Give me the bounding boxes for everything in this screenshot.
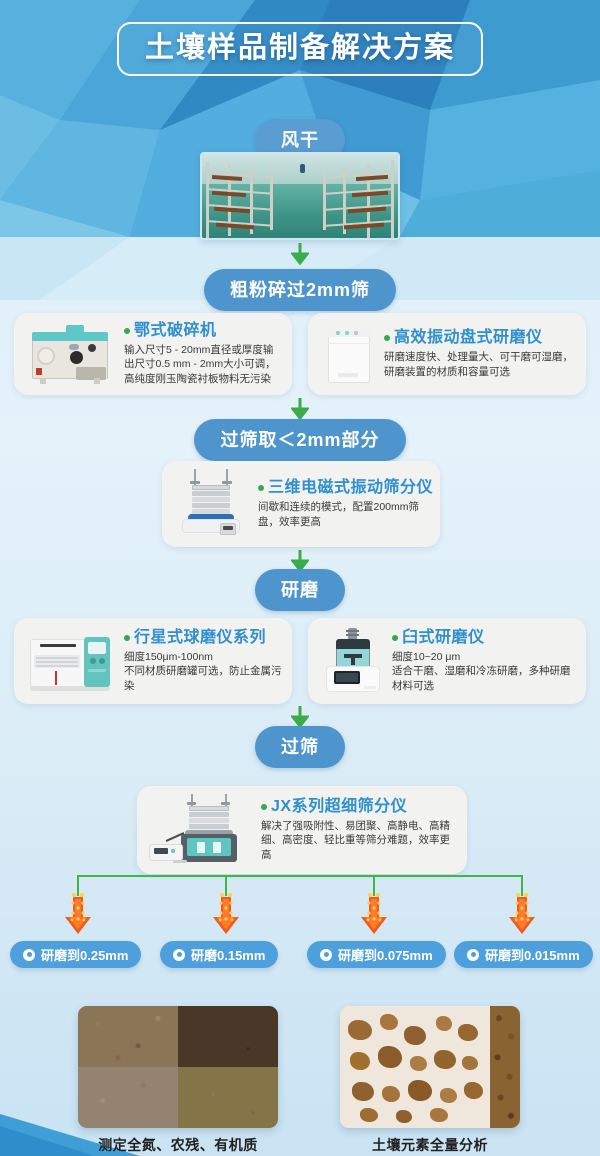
card-jaw-crusher[interactable]: 鄂式破碎机 输入尺寸5 - 20mm直径或厚度输出尺寸0.5 mm - 2mm大… <box>14 313 292 395</box>
orange-down-arrow-icon <box>62 893 94 937</box>
air-drying-racks-photo <box>200 152 400 240</box>
flow-arrow-icon <box>291 706 309 728</box>
planetary-ball-mill-device-icon <box>24 627 120 695</box>
result-chip-label: 研磨0.15mm <box>191 945 265 964</box>
step-pill-sieving[interactable]: 过筛 <box>255 726 345 768</box>
card-desc-vibrating-disc-mill: 研磨速度快、处理量大、可干磨可湿磨，研磨装置的材质和容量可选 <box>384 350 576 379</box>
result-chip-0-015mm[interactable]: 研磨到0.015mm <box>454 941 593 968</box>
card-desc-jx-ultrafine-sieve: 解决了强吸附性、易团聚、高静电、高精细、高密度、轻比重等筛分难题，效率更高 <box>261 819 457 862</box>
jaw-crusher-device-icon <box>24 321 120 387</box>
sieve-shaker-device-icon <box>172 467 254 541</box>
card-title-mortar-grinder: 臼式研磨仪 <box>392 629 576 647</box>
bullet-dot-icon <box>124 328 130 334</box>
card-title-vibrating-disc-mill: 高效振动盘式研磨仪 <box>384 329 576 347</box>
page-title: 土壤样品制备解决方案 <box>145 33 455 63</box>
card-title-3d-electromagnetic-sieve: 三维电磁式振动筛分仪 <box>258 479 430 497</box>
result-chip-label: 研磨到0.25mm <box>41 945 128 964</box>
orange-down-arrow-icon <box>506 893 538 937</box>
flow-arrow-icon <box>291 243 309 265</box>
card-3d-electromagnetic-sieve[interactable]: 三维电磁式振动筛分仪 间歇和连续的模式，配置200mm筛盘，效率更高 <box>162 461 440 547</box>
mortar-grinder-device-icon <box>318 626 388 696</box>
result-chip-0-15mm[interactable]: 研磨0.15mm <box>160 941 278 968</box>
card-mortar-grinder[interactable]: 臼式研磨仪 细度10~20 μm 适合干磨、湿磨和冷冻研磨，多种研磨材料可选 <box>308 618 586 704</box>
card-desc-jaw-crusher: 输入尺寸5 - 20mm直径或厚度输出尺寸0.5 mm - 2mm大小可调，高纯… <box>124 343 282 386</box>
soil-granules-photo <box>340 1006 520 1128</box>
step-pill-grinding-wrap: 研磨 <box>0 569 600 611</box>
chip-circle-icon <box>467 949 479 961</box>
card-desc-planetary-ball-mill: 细度150μm-100nm 不同材质研磨罐可选，防止金属污染 <box>124 650 282 693</box>
result-chip-label: 研磨到0.075mm <box>338 945 433 964</box>
chip-circle-icon <box>23 949 35 961</box>
chip-circle-icon <box>320 949 332 961</box>
card-desc-mortar-grinder: 细度10~20 μm 适合干磨、湿磨和冷冻研磨，多种研磨材料可选 <box>392 650 576 693</box>
step-pill-grinding[interactable]: 研磨 <box>255 569 345 611</box>
flow-arrow-icon <box>291 398 309 420</box>
chip-circle-icon <box>173 949 185 961</box>
card-planetary-ball-mill[interactable]: 行星式球磨仪系列 细度150μm-100nm 不同材质研磨罐可选，防止金属污染 <box>14 618 292 704</box>
infographic-page: 土壤样品制备解决方案 风干 <box>0 0 600 1156</box>
bullet-dot-icon <box>392 635 398 641</box>
jx-ultrafine-sieve-device-icon <box>147 792 257 868</box>
fine-soil-quadrant-photo <box>78 1006 278 1128</box>
card-title-jx-ultrafine-sieve: JX系列超细筛分仪 <box>261 798 457 816</box>
step-pill-sieving-wrap: 过筛 <box>0 726 600 768</box>
step-pill-sieve-2mm-wrap: 过筛取＜2mm部分 <box>0 419 600 461</box>
card-title-jaw-crusher: 鄂式破碎机 <box>124 322 282 340</box>
bullet-dot-icon <box>261 804 267 810</box>
card-jx-ultrafine-sieve[interactable]: JX系列超细筛分仪 解决了强吸附性、易团聚、高静电、高精细、高密度、轻比重等筛分… <box>137 786 467 874</box>
step-pill-coarse-crush-wrap: 粗粉碎过2mm筛 <box>0 269 600 311</box>
step-pill-sieve-2mm[interactable]: 过筛取＜2mm部分 <box>194 419 405 461</box>
result-chip-0-25mm[interactable]: 研磨到0.25mm <box>10 941 141 968</box>
orange-down-arrow-icon <box>210 893 242 937</box>
title-badge: 土壤样品制备解决方案 <box>117 22 483 76</box>
card-desc-3d-electromagnetic-sieve: 间歇和连续的模式，配置200mm筛盘，效率更高 <box>258 500 430 529</box>
orange-down-arrow-icon <box>358 893 390 937</box>
step-pill-coarse-crush[interactable]: 粗粉碎过2mm筛 <box>204 269 396 311</box>
result-chip-label: 研磨到0.015mm <box>485 945 580 964</box>
bullet-dot-icon <box>258 485 264 491</box>
bullet-dot-icon <box>124 635 130 641</box>
card-title-planetary-ball-mill: 行星式球磨仪系列 <box>124 629 282 647</box>
bullet-dot-icon <box>384 335 390 341</box>
application-caption-soil-granules: 土壤元素全量分析 <box>280 1135 580 1155</box>
result-chip-0-075mm[interactable]: 研磨到0.075mm <box>307 941 446 968</box>
vibrating-disc-mill-device-icon <box>318 321 380 387</box>
card-vibrating-disc-mill[interactable]: 高效振动盘式研磨仪 研磨速度快、处理量大、可干磨可湿磨，研磨装置的材质和容量可选 <box>308 313 586 395</box>
